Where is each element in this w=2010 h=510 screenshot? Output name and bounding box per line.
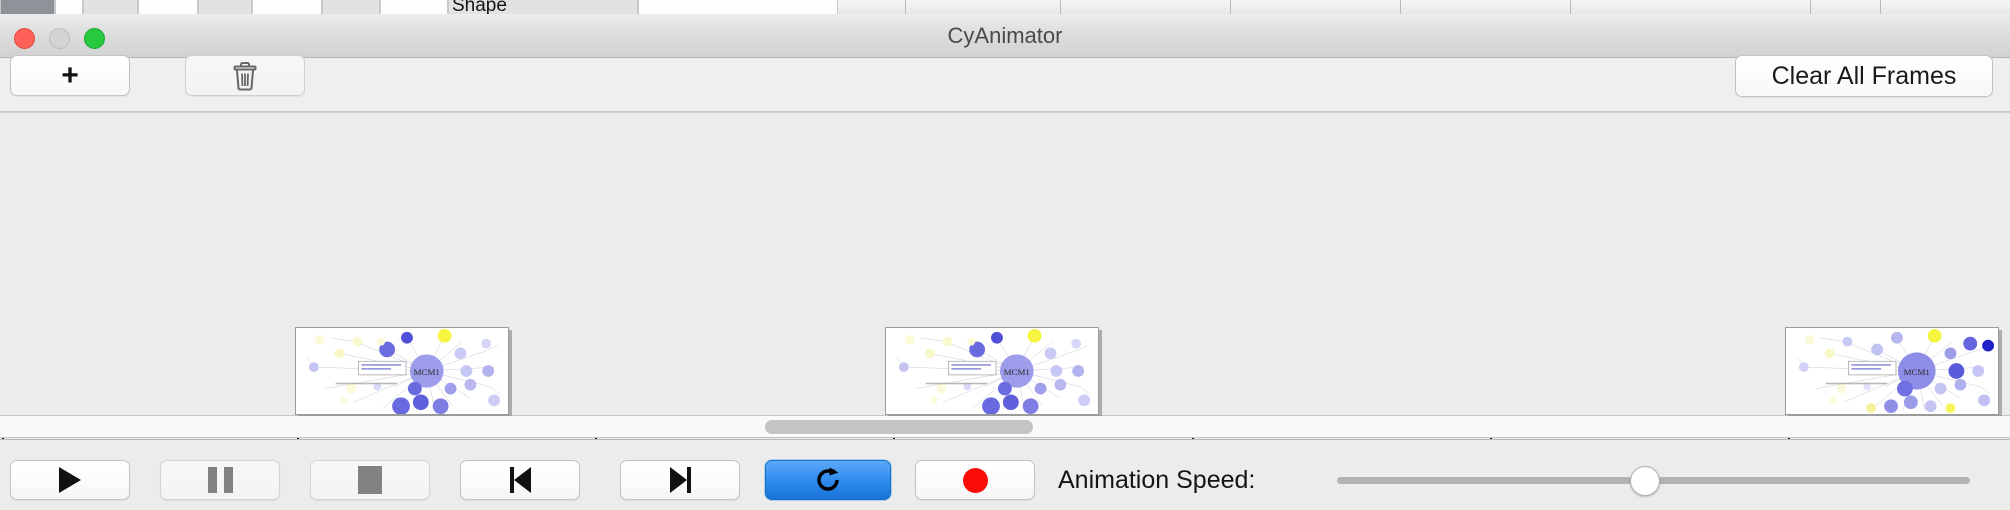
title-bar: CyAnimator — [0, 14, 2010, 58]
timeline-scrollbar[interactable] — [0, 416, 2010, 438]
close-button[interactable] — [14, 28, 35, 49]
loop-icon — [812, 464, 844, 496]
animation-speed-slider-thumb[interactable] — [1630, 466, 1660, 496]
play-button[interactable] — [10, 460, 130, 500]
bg-tab — [322, 0, 380, 14]
skip-back-icon — [510, 467, 531, 493]
plus-icon: + — [61, 61, 79, 91]
timeline-top-divider — [0, 112, 2010, 113]
bg-divider — [1810, 0, 1811, 14]
stop-button[interactable] — [310, 460, 430, 500]
pause-button[interactable] — [160, 460, 280, 500]
stop-icon — [358, 466, 382, 494]
svg-text:MCM1: MCM1 — [1004, 367, 1030, 377]
bg-divider — [1570, 0, 1571, 14]
skip-forward-icon — [670, 467, 691, 493]
bg-tab — [638, 0, 838, 14]
bg-tab — [83, 0, 138, 14]
zoom-button[interactable] — [84, 28, 105, 49]
bg-divider — [1230, 0, 1231, 14]
bg-divider — [1400, 0, 1401, 14]
loop-button[interactable] — [765, 460, 891, 500]
clear-all-frames-button[interactable]: Clear All Frames — [1735, 55, 1993, 97]
svg-text:MCM1: MCM1 — [1904, 367, 1930, 377]
add-frame-button[interactable]: + — [10, 55, 130, 96]
record-button[interactable] — [915, 460, 1035, 500]
first-frame-button[interactable] — [460, 460, 580, 500]
pause-icon — [208, 467, 233, 493]
bg-tab — [252, 0, 322, 14]
bg-divider — [905, 0, 906, 14]
play-icon — [59, 467, 81, 493]
scrollbar-thumb[interactable] — [765, 420, 1033, 434]
timeline-frame-thumbnail[interactable]: MCM1 — [295, 327, 509, 415]
timeline-frame-thumbnail[interactable]: MCM1 — [885, 327, 1099, 415]
delete-frame-button[interactable] — [185, 55, 305, 96]
traffic-light-group — [14, 28, 105, 49]
bg-tab — [380, 0, 448, 14]
bg-tab — [198, 0, 252, 14]
bg-divider — [1060, 0, 1061, 14]
animation-speed-label: Animation Speed: — [1058, 460, 1255, 500]
cyanimator-window: Shape CyAnimator + Clear All Frames — [0, 0, 2010, 510]
record-icon — [963, 468, 988, 493]
network-graph-thumbnail: MCM1 — [886, 328, 1098, 414]
bg-tab — [138, 0, 198, 14]
background-window-strip: Shape — [0, 0, 2010, 14]
minimize-button[interactable] — [49, 28, 70, 49]
network-graph-thumbnail: MCM1 — [1786, 328, 1998, 414]
last-frame-button[interactable] — [620, 460, 740, 500]
trash-icon — [232, 61, 258, 91]
bg-tab-dark — [0, 0, 55, 14]
network-graph-thumbnail: MCM1 — [296, 328, 508, 414]
background-window-label: Shape — [452, 0, 507, 14]
window-title: CyAnimator — [0, 14, 2010, 58]
bg-tab — [55, 0, 83, 14]
svg-text:MCM1: MCM1 — [414, 367, 440, 377]
bg-divider — [1880, 0, 1881, 14]
timeline-frame-thumbnail[interactable]: MCM1 — [1785, 327, 1999, 415]
timeline-panel[interactable]: MCM1 — [0, 112, 2010, 416]
